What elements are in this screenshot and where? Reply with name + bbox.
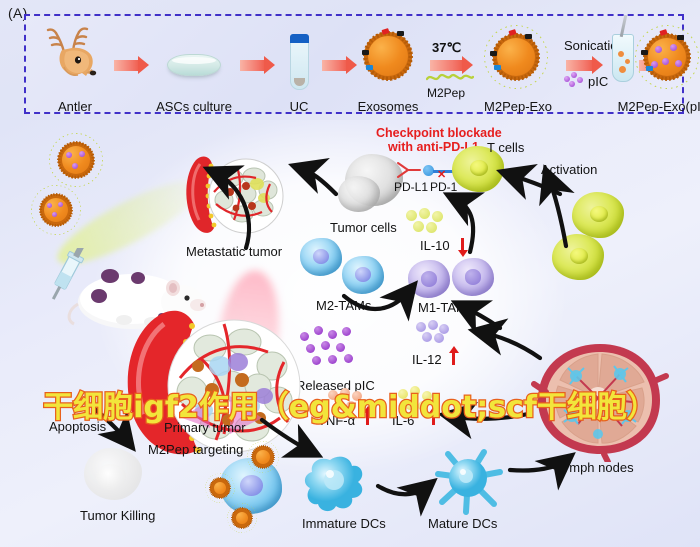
mature-dc-icon bbox=[426, 444, 512, 520]
exosome-marker-black-2 bbox=[490, 51, 497, 56]
circulating-exosome bbox=[58, 142, 94, 178]
pic-cluster-icon bbox=[564, 72, 586, 88]
step-label-exosomes: Exosomes bbox=[358, 99, 419, 114]
label-tumor-killing: Tumor Killing bbox=[80, 508, 155, 523]
targeting-exosome bbox=[232, 508, 252, 528]
step-label-m2pep-exo: M2Pep-Exo bbox=[484, 99, 552, 114]
arrow-culture-to-uc bbox=[240, 60, 266, 71]
arrow-uc-to-exosomes bbox=[322, 60, 348, 71]
targeting-exosome bbox=[252, 446, 274, 468]
step-label-antler: Antler bbox=[58, 99, 92, 114]
arrow-antler-to-culture bbox=[114, 60, 140, 71]
t-cell-activated bbox=[572, 192, 624, 238]
arrow-exosomes-to-m2pepexo bbox=[430, 60, 464, 71]
panel-a: (A) bbox=[0, 0, 700, 120]
label-t-cells: T cells bbox=[487, 140, 524, 155]
loaded-pic-dot bbox=[670, 44, 677, 51]
pd-l1-antibody-icon bbox=[396, 160, 422, 180]
step-m2pep-exo: M2Pep-Exo bbox=[466, 20, 570, 112]
m2pep-corona bbox=[49, 133, 103, 187]
label-m1-tams: M1-TAMs bbox=[418, 300, 473, 315]
label-pd-l1: PD-L1 bbox=[394, 180, 428, 194]
metastatic-tumor-icon bbox=[178, 148, 288, 244]
loaded-pic-dot bbox=[47, 203, 52, 208]
m2-tam-cell bbox=[300, 238, 342, 276]
tube-cap bbox=[290, 34, 309, 43]
step-uc: UC bbox=[270, 20, 328, 112]
label-immature-dcs: Immature DCs bbox=[302, 516, 386, 531]
label-m2pep: M2Pep bbox=[427, 86, 465, 100]
step-label-m2pep-exo-pic: M2Pep-Exo(pIC) bbox=[618, 99, 700, 114]
centrifuge-tube-icon bbox=[290, 34, 309, 90]
peptide-exosome-icon bbox=[493, 34, 539, 80]
m2-tam-cell bbox=[342, 256, 384, 294]
label-il-10: IL-10 bbox=[420, 238, 450, 253]
exosome-marker-black bbox=[525, 34, 532, 39]
label-temperature: 37℃ bbox=[432, 40, 461, 56]
exosome-marker-blue bbox=[494, 65, 501, 70]
m2pep-corona bbox=[31, 185, 81, 235]
m2pep-corona bbox=[227, 503, 257, 533]
loaded-pic-dot bbox=[675, 60, 682, 67]
il-12-dots bbox=[414, 320, 458, 348]
t-cell-activated bbox=[552, 234, 604, 280]
m2pep-corona bbox=[484, 25, 548, 89]
figure-root: (A) bbox=[0, 0, 700, 547]
released-pic-dots bbox=[300, 326, 364, 368]
il-10-down-arrow bbox=[461, 238, 464, 251]
targeting-exosome bbox=[210, 478, 230, 498]
m2pep-corona bbox=[247, 441, 279, 473]
m2pep-corona bbox=[205, 473, 235, 503]
circulating-exosome bbox=[40, 194, 72, 226]
loaded-pic-dot bbox=[52, 212, 57, 217]
label-mature-dcs: Mature DCs bbox=[428, 516, 497, 531]
label-pd-1: PD-1 bbox=[430, 180, 457, 194]
watermark-text: 干细胞igf2作用（eg&middot;scf干细胞） bbox=[0, 382, 700, 426]
step-ascs-culture: ASCs culture bbox=[144, 20, 244, 112]
step-label-uc: UC bbox=[290, 99, 309, 114]
deer-icon bbox=[42, 22, 106, 80]
immature-dc-icon bbox=[300, 450, 376, 518]
exosome-marker-blue bbox=[646, 66, 653, 71]
loaded-pic-dot bbox=[662, 58, 669, 65]
step-antler: Antler bbox=[32, 20, 118, 112]
loaded-pic-dot bbox=[72, 163, 78, 169]
m1-tam-cell bbox=[452, 258, 494, 296]
m1-tam-cell bbox=[408, 260, 450, 298]
exosome-marker-blue bbox=[366, 65, 373, 70]
loaded-exosome-icon bbox=[644, 34, 690, 80]
label-m2-tams: M2-TAMs bbox=[316, 298, 371, 313]
label-activation: Activation bbox=[541, 162, 597, 177]
tube-pellet bbox=[294, 78, 305, 86]
step-label-ascs-culture: ASCs culture bbox=[156, 99, 232, 114]
exosome-marker-black bbox=[677, 35, 684, 40]
loaded-pic-dot bbox=[655, 46, 662, 53]
panel-a-dashed-box: Antler ASCs culture UC bbox=[24, 14, 684, 114]
exosome-marker-black-2 bbox=[641, 50, 648, 55]
exosome-marker-black bbox=[397, 31, 404, 36]
loaded-pic-dot bbox=[66, 152, 72, 158]
exosome-icon bbox=[364, 32, 412, 80]
panel-b: Metastatic tumor Tumor cells Checkpoint … bbox=[0, 120, 700, 547]
step-m2pep-exo-pic: M2Pep-Exo(pIC) bbox=[584, 20, 688, 112]
il-10-dots bbox=[406, 208, 452, 238]
label-metastatic-tumor: Metastatic tumor bbox=[186, 244, 282, 259]
exosome-marker-black-2 bbox=[362, 50, 369, 55]
il-12-up-arrow bbox=[452, 352, 455, 365]
petri-dish-icon bbox=[167, 54, 221, 76]
step-exosomes: Exosomes bbox=[348, 20, 428, 112]
label-il-12: IL-12 bbox=[412, 352, 442, 367]
loaded-pic-dot bbox=[79, 151, 85, 157]
label-lymph-nodes: Lymph nodes bbox=[556, 460, 634, 475]
label-tumor-cells: Tumor cells bbox=[330, 220, 397, 235]
loaded-pic-dot bbox=[58, 202, 63, 207]
label-checkpoint-blockade-line1: Checkpoint blockade bbox=[376, 126, 502, 140]
m2pep-corona bbox=[635, 25, 699, 89]
label-m2pep-targeting: M2Pep targeting bbox=[148, 442, 243, 457]
exosome-bilayer bbox=[363, 31, 413, 81]
